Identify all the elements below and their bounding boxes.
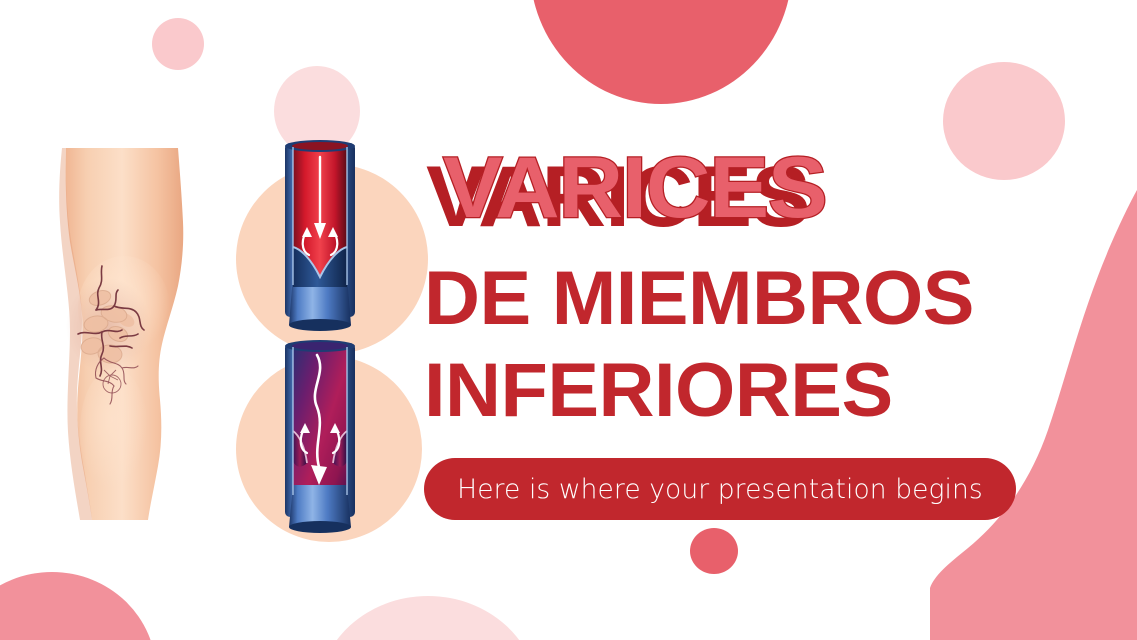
main-title: VARICES VARICES <box>424 140 1014 236</box>
circle-top-left-small <box>152 18 204 70</box>
title-text-block: VARICES VARICES DE MIEMBROS INFERIORES H… <box>424 140 1014 520</box>
subtitle-pill[interactable]: Here is where your presentation begins <box>424 458 1016 520</box>
title-line-two: DE MIEMBROS <box>424 250 1026 348</box>
title-line-three: INFERIORES <box>424 342 1026 440</box>
main-title-front-layer: VARICES <box>443 140 827 236</box>
circle-bottom-left-pink <box>0 572 156 640</box>
leg-with-varicose-veins-illustration <box>52 148 204 526</box>
circle-bottom-mid-pale <box>318 596 538 640</box>
competent-venous-valve-closed-diagram <box>271 135 369 335</box>
dot-bottom-center-coral <box>690 528 738 574</box>
title-slide: VARICES VARICES DE MIEMBROS INFERIORES H… <box>0 0 1137 640</box>
circle-top-center-coral <box>530 0 792 104</box>
incompetent-venous-valve-reflux-diagram <box>271 335 369 535</box>
subtitle-text: Here is where your presentation begins <box>457 474 983 505</box>
